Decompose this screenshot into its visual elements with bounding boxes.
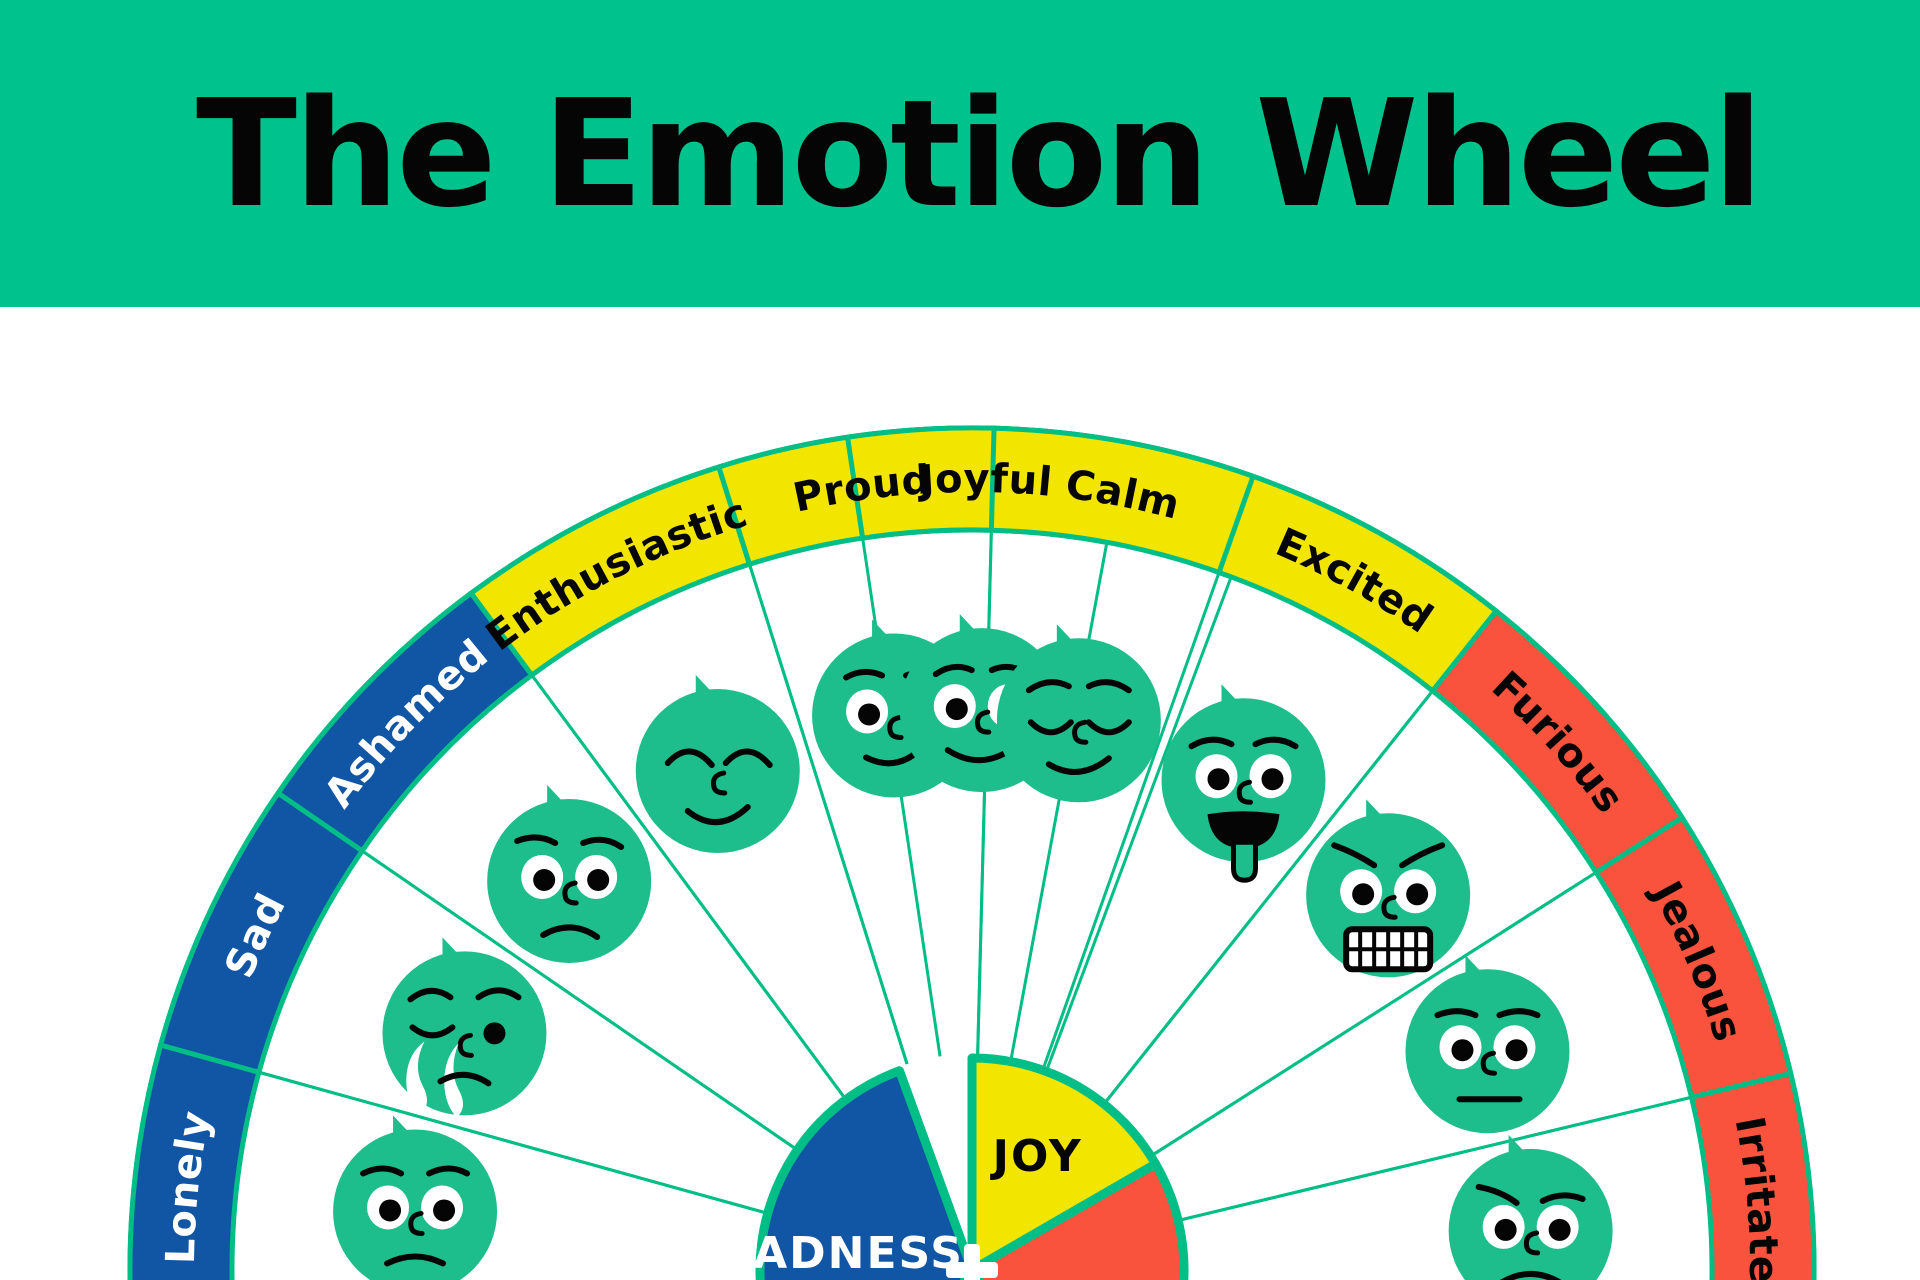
segment-divider xyxy=(863,538,940,1056)
page-title: The Emotion Wheel xyxy=(196,80,1760,228)
emotion-face-sad xyxy=(382,937,546,1117)
core-wedge-label-sadness: SADNESS xyxy=(719,1228,964,1279)
emotion-face-excited xyxy=(1161,684,1325,880)
emotion-face-furious xyxy=(1306,799,1470,977)
emotion-face-enthusiastic xyxy=(636,675,800,853)
wheel-stage: LonelySadAshamedEnthusiasticProudJoyfulC… xyxy=(0,307,1920,1280)
core-wedge-label-anger: ANGER xyxy=(1010,1273,1191,1280)
poster-header: The Emotion Wheel xyxy=(0,0,1920,307)
emotion-wheel-graphic[interactable]: LonelySadAshamedEnthusiasticProudJoyfulC… xyxy=(0,307,1920,1280)
emotion-face-ashamed xyxy=(487,785,651,963)
ring-segment-label-joyful: Joyful xyxy=(915,456,1054,506)
emotion-face-lonely xyxy=(333,1115,497,1280)
emotion-wheel-poster: The Emotion Wheel LonelySadAshamedEnthus… xyxy=(0,0,1920,1280)
emotion-face-jealous xyxy=(1405,955,1569,1133)
segment-divider xyxy=(978,530,992,1054)
core-wedge-label-joy: JOY xyxy=(990,1131,1083,1182)
emotion-face-irritated xyxy=(1449,1135,1613,1280)
